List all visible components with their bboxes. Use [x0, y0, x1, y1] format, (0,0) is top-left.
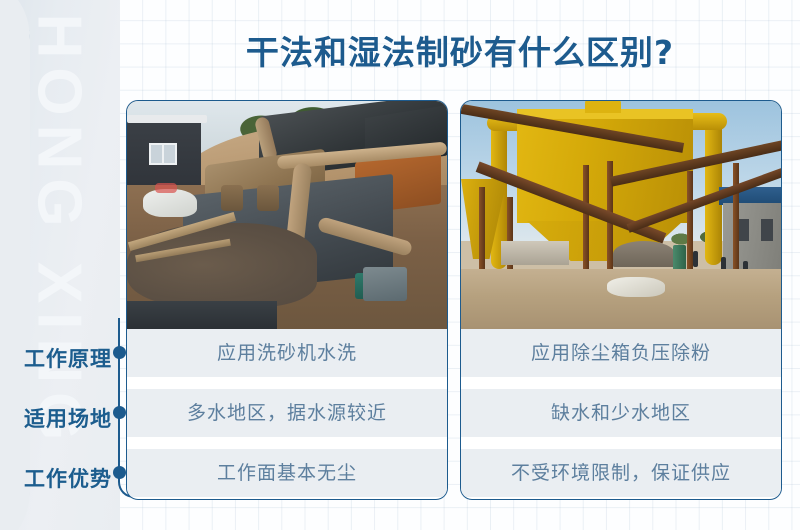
row-divider [127, 377, 447, 389]
row-value-site: 多水地区，据水源较近 [127, 389, 447, 437]
row-value-advantage: 工作面基本无尘 [127, 449, 447, 497]
row-label-site: 适用场地 [8, 403, 112, 433]
row-value-principle: 应用除尘箱负压除粉 [461, 329, 781, 377]
bullet-dot-site [113, 406, 126, 419]
row-divider [461, 377, 781, 389]
card-dry-method: 应用除尘箱负压除粉 缺水和少水地区 不受环境限制，保证供应 [460, 100, 782, 500]
row-divider [461, 437, 781, 449]
bullet-dot-advantage [113, 466, 126, 479]
row-value-advantage: 不受环境限制，保证供应 [461, 449, 781, 497]
photo-wet-method [127, 101, 447, 329]
left-sidebar: HONG XING 工作原理 适用场地 工作优势 [0, 0, 120, 530]
page-title: 干法和湿法制砂有什么区别? [120, 26, 800, 74]
rows-wet-method: 应用洗砂机水洗 多水地区，据水源较近 工作面基本无尘 [127, 329, 447, 497]
row-value-site: 缺水和少水地区 [461, 389, 781, 437]
photo-dry-method [461, 101, 781, 329]
row-label-advantage: 工作优势 [8, 463, 112, 493]
card-wet-method: 应用洗砂机水洗 多水地区，据水源较近 工作面基本无尘 [126, 100, 448, 500]
row-divider [127, 437, 447, 449]
row-value-principle: 应用洗砂机水洗 [127, 329, 447, 377]
row-label-principle: 工作原理 [8, 343, 112, 373]
bullet-dot-principle [113, 346, 126, 359]
rows-dry-method: 应用除尘箱负压除粉 缺水和少水地区 不受环境限制，保证供应 [461, 329, 781, 497]
infographic-canvas: HONG XING 工作原理 适用场地 工作优势 干法和湿法制砂有什么区别? [0, 0, 800, 530]
